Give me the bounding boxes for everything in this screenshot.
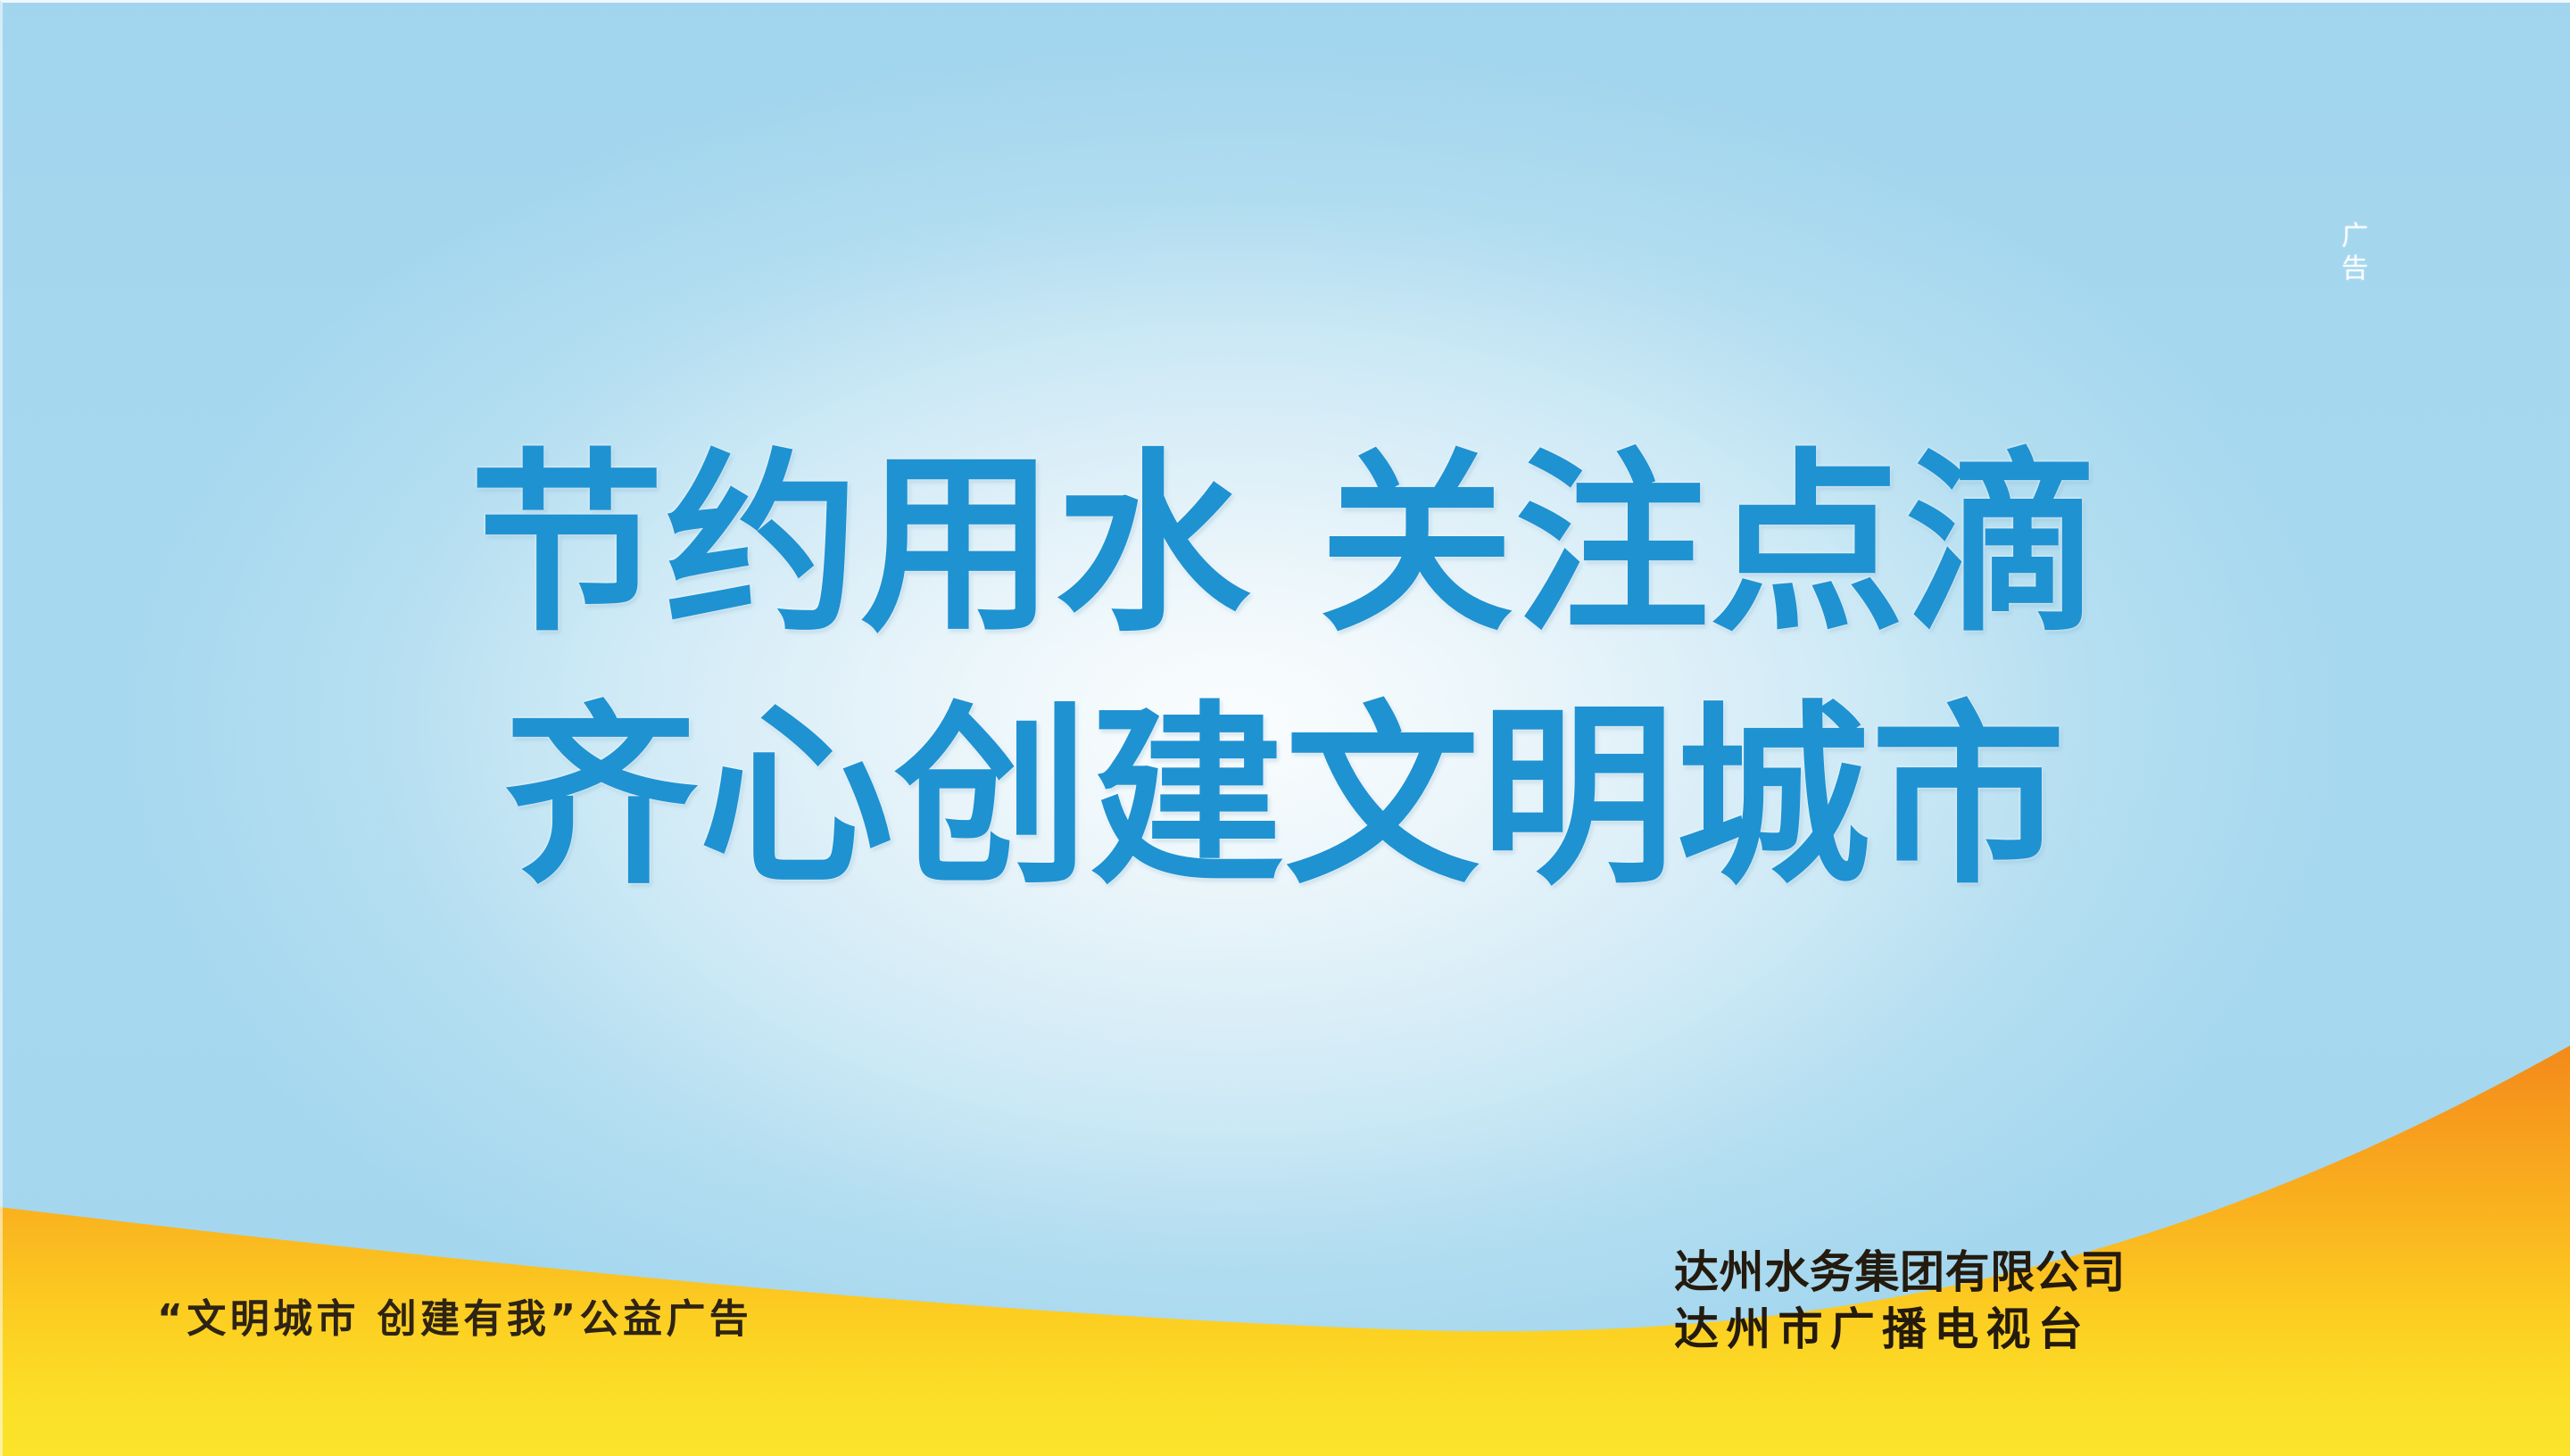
- public-service-ad-poster: 广告 节约用水 关注点滴 齐心创建文明城市 “文明城市 创建有我”公益广告 达州…: [0, 0, 2570, 1456]
- sponsor-block: 达州水务集团有限公司 达州市广播电视台: [1674, 1244, 2352, 1358]
- sponsor-line-broadcast-station: 达州市广播电视台: [1674, 1301, 2352, 1358]
- campaign-caption: “文明城市 创建有我”公益广告: [157, 1286, 752, 1344]
- slogan-line-1: 节约用水 关注点滴: [0, 419, 2570, 672]
- advertisement-watermark: 广告: [2331, 221, 2372, 286]
- main-slogan: 节约用水 关注点滴 齐心创建文明城市: [0, 419, 2570, 925]
- sponsor-line-water-group: 达州水务集团有限公司: [1674, 1244, 2352, 1301]
- slogan-line-2: 齐心创建文明城市: [0, 672, 2570, 924]
